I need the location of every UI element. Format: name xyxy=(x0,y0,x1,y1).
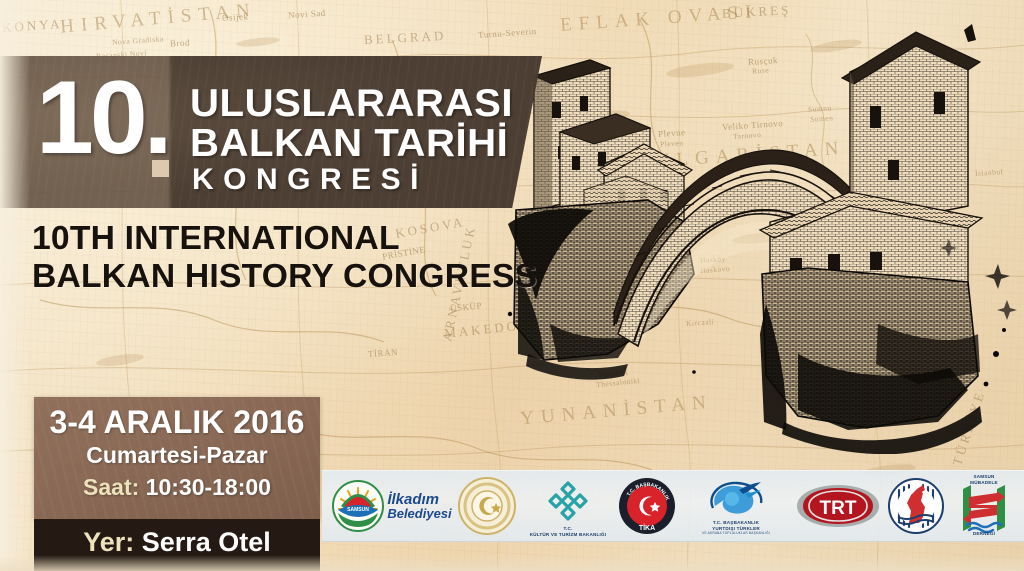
sponsor-logo-bar: SAMSUN İlkadım Belediyesi xyxy=(322,470,1024,542)
sponsor-logo-gold-seal xyxy=(452,475,522,537)
ilkadim-wordmark-line1: İlkadım xyxy=(387,492,451,507)
yurtdisi-turkler-globe-icon xyxy=(705,480,767,520)
yurtdisi-caption-line3: VE AKRABA TOPLULUKLAR BAŞKANLIĞI xyxy=(702,531,770,536)
yurtdisi-caption-line1: T.C. BAŞBAKANLIK xyxy=(713,520,759,525)
trt-wordmark: TRT xyxy=(820,498,857,519)
title-english-line2: BALKAN HISTORY CONGRESS xyxy=(32,257,537,295)
tika-wordmark: TİKA xyxy=(639,524,655,532)
tika-emblem-icon: TİKA T.C. BAŞBAKANLIK xyxy=(618,477,676,535)
event-time: Saat: 10:30-18:00 xyxy=(34,475,320,500)
mubadele-caption-line2: MÜBADELE xyxy=(970,480,998,485)
poster-root: KONYAHIRVATİSTANOsijekNovi SadBELGRADBro… xyxy=(0,0,1024,571)
title-turkish-line2: BALKAN TARİHİ xyxy=(190,124,508,163)
ilkadim-emblem-icon: SAMSUN xyxy=(332,480,384,532)
sponsor-logo-ilkadim-belediyesi: SAMSUN İlkadım Belediyesi xyxy=(332,475,452,537)
title-english-line1: 10TH INTERNATIONAL xyxy=(32,219,537,257)
venue-block: Yer: Serra Otel xyxy=(34,519,320,571)
event-dates: 3-4 ARALIK 2016 xyxy=(34,405,320,439)
ilkadim-badge-text: SAMSUN xyxy=(347,507,369,513)
title-turkish-line3: KONGRESİ xyxy=(192,165,428,195)
ilkadim-wordmark-line2: Belediyesi xyxy=(387,507,451,520)
mubadele-caption-line1: SAMSUN xyxy=(973,474,994,479)
venue-value: Serra Otel xyxy=(134,527,271,557)
event-time-value: 10:30-18:00 xyxy=(139,474,271,500)
edition-number: 10. xyxy=(36,66,169,170)
sponsor-logo-tika: TİKA T.C. BAŞBAKANLIK xyxy=(614,475,680,537)
kultur-turizm-caption-line1: T.C. xyxy=(564,526,573,531)
samsun-emblem-icon xyxy=(887,477,945,535)
sponsor-logo-samsun-mubadele-dernegi: SAMSUN MÜBADELE DERNEĞİ xyxy=(948,475,1020,537)
event-time-label: Saat: xyxy=(83,474,139,500)
trt-logo-icon: TRT xyxy=(795,483,881,529)
event-days: Cumartesi-Pazar xyxy=(34,443,320,468)
sponsor-logo-kultur-turizm-bakanligi: T.C. KÜLTÜR VE TURİZM BAKANLIĞI xyxy=(522,475,614,537)
venue-label: Yer: xyxy=(83,527,134,557)
sponsor-logo-samsun-emblem xyxy=(884,475,948,537)
edition-number-dot xyxy=(152,160,169,177)
mostar-bridge-illustration xyxy=(498,24,1024,454)
title-english: 10TH INTERNATIONAL BALKAN HISTORY CONGRE… xyxy=(32,219,537,295)
title-turkish-line1: ULUSLARARASI xyxy=(190,84,513,123)
gold-seal-icon xyxy=(458,477,516,535)
mubadele-caption-line3: DERNEĞİ xyxy=(973,531,995,536)
sponsor-logo-yurtdisi-turkler: T.C. BAŞBAKANLIK YURTDIŞI TÜRKLER VE AKR… xyxy=(680,475,792,537)
venue-text: Yer: Serra Otel xyxy=(34,527,320,557)
kultur-turizm-motif-icon xyxy=(545,479,591,525)
sponsor-logo-trt: TRT xyxy=(792,475,884,537)
kultur-turizm-caption-line2: KÜLTÜR VE TURİZM BAKANLIĞI xyxy=(530,532,607,537)
date-block: 3-4 ARALIK 2016 Cumartesi-Pazar Saat: 10… xyxy=(34,397,320,519)
